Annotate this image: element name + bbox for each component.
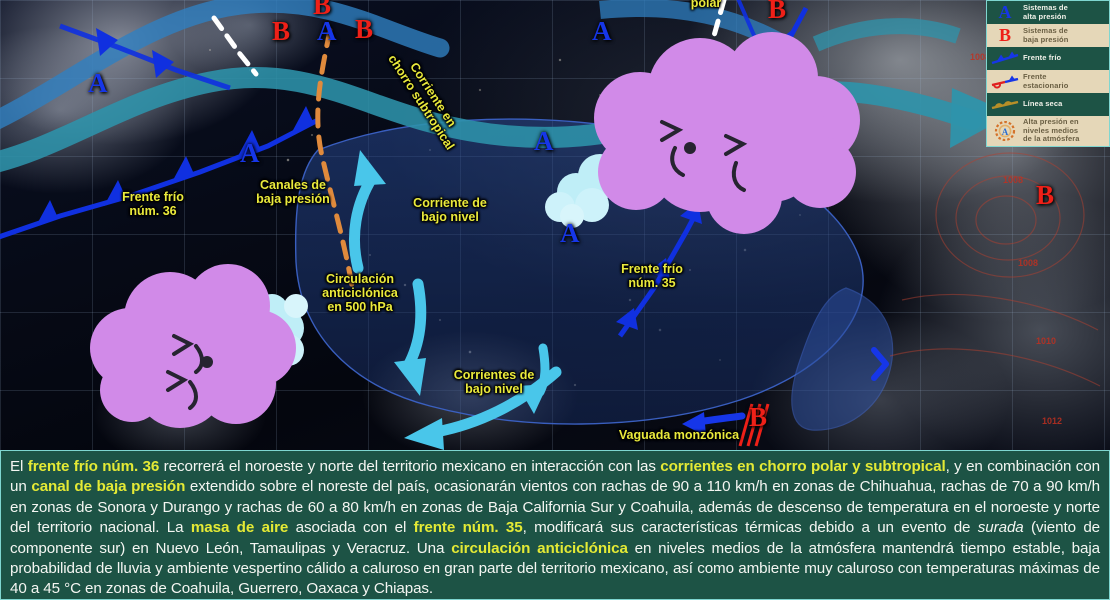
dry-line-icon (990, 97, 1020, 113)
forecast-highlight: frente núm. 35 (414, 519, 523, 536)
legend-item-frente-frio-label: Frente frío (1023, 54, 1061, 63)
cold-front-36 (0, 106, 318, 240)
legend-item-alta-presion-niveles-medios[interactable]: AAlta presión en niveles medios de la at… (987, 116, 1109, 146)
forecast-paragraph: El frente frío núm. 36 recorrerá el noro… (10, 457, 1100, 600)
stationary-front-icon (990, 72, 1020, 91)
legend-item-frente-estacionario-label: Frente estacionario (1023, 73, 1068, 90)
upper-high-icon: A (992, 121, 1018, 141)
legend-item-alta-presion-niveles-medios-label: Alta presión en niveles medios de la atm… (1023, 118, 1080, 144)
legend-item-baja-presion-label: Sistemas de baja presión (1023, 27, 1068, 44)
pressure-mark-B-1: B (272, 18, 290, 45)
letter-A-icon: A (990, 3, 1020, 22)
forecast-text: asociada con el (288, 519, 413, 536)
letter-B-icon: B (990, 26, 1020, 45)
weather-forecast-graphic: Corriente en chorro subtropical Frente f… (0, 0, 1110, 600)
forecast-text: recorrerá el noroeste y norte del territ… (159, 458, 660, 475)
pressure-mark-B-2: B (313, 0, 331, 19)
forecast-text-panel: El frente frío núm. 36 recorrerá el noro… (0, 450, 1110, 600)
legend-item-linea-seca[interactable]: Línea seca (987, 93, 1109, 116)
forecast-highlight: corrientes en chorro polar y subtropical (660, 458, 945, 475)
satellite-weather-map: Corriente en chorro subtropical Frente f… (0, 0, 1110, 450)
cloud-mouth-north (684, 142, 696, 154)
forecast-highlight: masa de aire (191, 519, 288, 536)
letter-B-icon: B (999, 25, 1011, 46)
pressure-mark-B-6: B (749, 404, 767, 431)
letter-A-icon: A (999, 2, 1012, 23)
map-legend: ASistemas de alta presiónBSistemas de ba… (986, 0, 1110, 147)
legend-item-frente-frio[interactable]: Frente frío (987, 47, 1109, 70)
isobar-label-1: 1008 (1018, 258, 1038, 268)
pressure-mark-B-3: B (355, 16, 373, 43)
pressure-mark-B-5: B (1036, 182, 1054, 209)
legend-item-linea-seca-label: Línea seca (1023, 100, 1062, 109)
isobar-label-2: 1010 (1036, 336, 1056, 346)
wind-cloud-character-south (90, 264, 308, 428)
upper-high-icon: A (990, 121, 1020, 140)
isobar-label-3: 1012 (1042, 416, 1062, 426)
forecast-text: surada (978, 519, 1024, 536)
pressure-mark-A-6: A (560, 220, 580, 247)
dry-line-icon (990, 95, 1020, 114)
legend-item-alta-presion-label: Sistemas de alta presión (1023, 4, 1068, 21)
forecast-text: El (10, 458, 28, 475)
legend-item-baja-presion[interactable]: BSistemas de baja presión (987, 24, 1109, 47)
forecast-highlight: frente frío núm. 36 (28, 458, 160, 475)
forecast-highlight: circulación anticiclónica (451, 540, 628, 557)
pressure-mark-A-4: A (534, 128, 554, 155)
pressure-mark-A-2: A (240, 140, 260, 167)
cloud-body-north (594, 32, 860, 234)
cold-front-icon (990, 49, 1020, 68)
stationary-front-icon (990, 74, 1020, 90)
forecast-text: , modificará sus características térmica… (523, 519, 978, 536)
svg-text:A: A (1002, 127, 1009, 137)
pressure-mark-A-5: A (592, 18, 612, 45)
cloud-mouth-south (201, 356, 213, 368)
map-overlay-graphics (0, 0, 1110, 450)
pressure-mark-B-4: B (768, 0, 786, 23)
isobar-label-0: 1008 (1003, 175, 1023, 185)
pressure-mark-A-1: A (88, 70, 108, 97)
isobar-contours (890, 153, 1100, 386)
forecast-highlight: canal de baja presión (31, 478, 185, 495)
legend-item-alta-presion[interactable]: ASistemas de alta presión (987, 1, 1109, 24)
cold-front-icon (990, 51, 1020, 67)
legend-item-frente-estacionario[interactable]: Frente estacionario (987, 70, 1109, 93)
pressure-mark-A-3: A (317, 18, 337, 45)
